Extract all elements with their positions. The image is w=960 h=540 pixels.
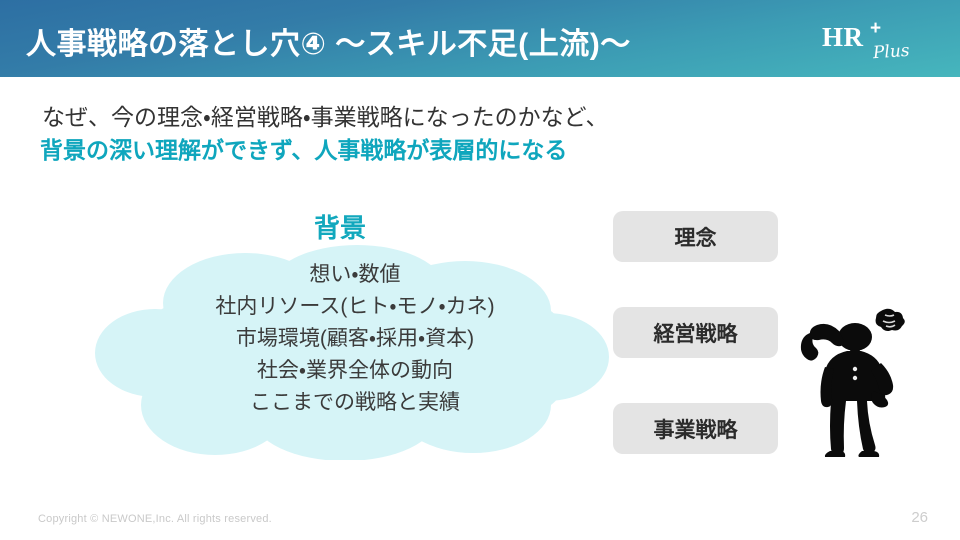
cloud-item: ここまでの戦略と実績	[95, 387, 615, 419]
businessman-silhouette-icon	[795, 305, 920, 460]
logo-plus-icon: +	[870, 19, 881, 38]
hrplus-logo: HR + Plus	[818, 22, 928, 68]
cloud-heading: 背景	[0, 208, 680, 245]
background-cloud: 想い・数値 社内リソース(ヒト・モノ・カネ) 市場環境(顧客・採用・資本) 社会…	[95, 245, 615, 460]
strategy-box-rinen: 理念	[613, 211, 778, 262]
lead-line-2: 背景の深い理解ができず、人事戦略が表層的になる	[40, 131, 567, 165]
page-title: 人事戦略の落とし穴④ 〜スキル不足(上流)〜	[26, 19, 631, 63]
cloud-item: 社会・業界全体の動向	[95, 355, 615, 387]
slide-canvas: 人事戦略の落とし穴④ 〜スキル不足(上流)〜 HR + Plus なぜ、今の理念…	[0, 0, 960, 540]
copyright-text: Copyright © NEWONE,Inc. All rights reser…	[38, 513, 272, 525]
cloud-item: 社内リソース(ヒト・モノ・カネ)	[95, 291, 615, 323]
cloud-item: 市場環境(顧客・採用・資本)	[95, 323, 615, 355]
strategy-box-keiei-senryaku: 経営戦略	[613, 307, 778, 358]
slide-header: 人事戦略の落とし穴④ 〜スキル不足(上流)〜 HR + Plus	[0, 0, 960, 77]
logo-plus-word: Plus	[872, 41, 910, 64]
lead-line-1: なぜ、今の理念・経営戦略・事業戦略になったのかなど、	[42, 98, 609, 132]
puzzled-person-illustration	[795, 305, 920, 460]
logo-hr-text: HR	[822, 22, 864, 53]
cloud-item: 想い・数値	[95, 259, 615, 291]
page-number: 26	[911, 509, 928, 526]
cloud-text-block: 想い・数値 社内リソース(ヒト・モノ・カネ) 市場環境(顧客・採用・資本) 社会…	[95, 259, 615, 419]
strategy-box-jigyo-senryaku: 事業戦略	[613, 403, 778, 454]
